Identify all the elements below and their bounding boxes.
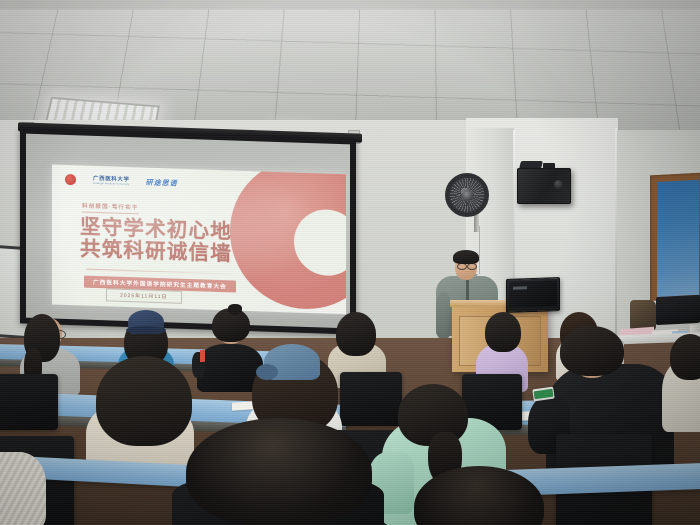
- wall-corner-edge: [615, 128, 617, 354]
- fan-pull-cord: [479, 226, 480, 274]
- audience-foreground-left-arm: [0, 452, 46, 525]
- slide-tagline: 科创报国·笃行实干: [82, 201, 139, 214]
- podium-monitor: [506, 277, 560, 313]
- window-glass: [657, 180, 699, 297]
- speaker-cone: [554, 180, 563, 189]
- audience-4-hair: [336, 312, 376, 356]
- slide-org-block: 广西医科大学 Guangxi Medical University: [93, 176, 130, 187]
- audience-2-cap-brim: [126, 326, 166, 334]
- slide-logo-row: 广西医科大学 Guangxi Medical University 研途思语: [64, 173, 178, 190]
- phone-screen: [534, 389, 554, 400]
- audience-3-bun: [228, 304, 242, 315]
- presenter-hair: [453, 250, 479, 264]
- side-monitor: [656, 295, 700, 325]
- slide-org-name-latin: Guangxi Medical University: [93, 182, 130, 186]
- slide-brand-script: 研途思语: [146, 177, 178, 188]
- window: [650, 173, 700, 316]
- chair-r2-1: [0, 374, 58, 430]
- audience-8-hair: [560, 326, 624, 376]
- audience-7-hair: [485, 312, 521, 352]
- presenter-arm: [436, 292, 451, 338]
- chair-r2-2: [340, 372, 402, 426]
- fan-hub: [462, 190, 473, 201]
- presenter-glasses-right: [467, 263, 477, 270]
- audience-11-hair: [96, 356, 192, 446]
- screen-surface: 广西医科大学 Guangxi Medical University 研途思语 科…: [26, 134, 350, 329]
- projected-slide: 广西医科大学 Guangxi Medical University 研途思语 科…: [52, 164, 346, 314]
- monitor-glint: [513, 286, 527, 289]
- audience-12-hair: [670, 334, 700, 380]
- desk-paper-1: [200, 350, 205, 363]
- presenter-glasses-left: [457, 263, 467, 270]
- audience-10-hair: [186, 418, 372, 525]
- wall-fan-icon: [445, 173, 489, 217]
- ceiling-speaker-icon: [517, 168, 571, 204]
- bag: [630, 300, 656, 330]
- slide-date: 2025年11月11日: [106, 288, 182, 304]
- university-emblem-icon: [64, 173, 77, 186]
- podium-monitor-screen: [509, 280, 557, 308]
- audience-1-glasses: [54, 330, 66, 339]
- projection-screen: 广西医科大学 Guangxi Medical University 研途思语 科…: [20, 127, 356, 334]
- slide-divider: [86, 269, 252, 276]
- audience-5-cap-brim: [256, 364, 278, 380]
- lecture-room-photo: 广西医科大学 Guangxi Medical University 研途思语 科…: [0, 0, 700, 525]
- desk-paper-2: [232, 401, 254, 411]
